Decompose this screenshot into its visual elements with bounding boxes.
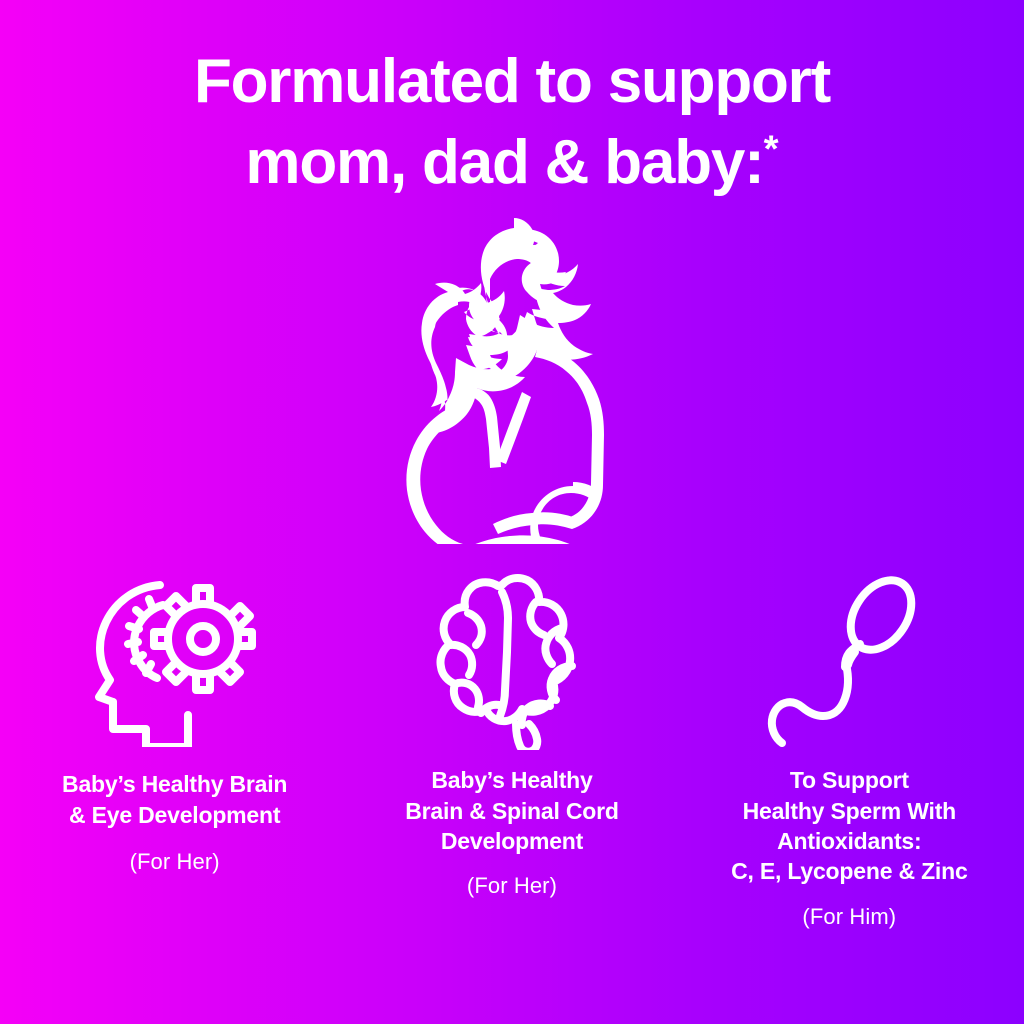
sperm-icon — [763, 571, 935, 751]
benefit-3-line-3: Antioxidants: — [731, 826, 968, 856]
benefit-caption-2: Baby’s Healthy Brain & Spinal Cord Devel… — [399, 765, 624, 856]
benefit-icon-3-box — [763, 571, 935, 751]
promo-graphic-root: { "theme": { "gradient_start": "#F500F7"… — [0, 0, 1024, 1024]
benefit-column-2: Baby’s Healthy Brain & Spinal Cord Devel… — [343, 571, 680, 901]
benefit-audience-3: (For Him) — [802, 903, 896, 932]
headline-line-2: mom, dad & baby: — [245, 128, 763, 197]
benefit-caption-1: Baby’s Healthy Brain & Eye Development — [56, 769, 293, 830]
asterisk-footnote-marker: * — [764, 127, 779, 170]
benefit-2-line-1: Baby’s Healthy — [405, 765, 618, 795]
benefit-1-line-1: Baby’s Healthy Brain — [62, 769, 287, 799]
benefit-icon-1-box — [86, 571, 264, 751]
hero-illustration — [0, 209, 1024, 549]
headline-line-1: Formulated to support — [70, 42, 954, 123]
benefit-audience-1: (For Her) — [130, 848, 220, 877]
benefit-audience-2: (For Her) — [467, 872, 557, 901]
benefit-2-line-2: Brain & Spinal Cord — [405, 796, 618, 826]
benefit-3-line-1: To Support — [731, 765, 968, 795]
benefit-column-3: To Support Healthy Sperm With Antioxidan… — [681, 571, 1018, 931]
benefit-icon-2-box — [424, 571, 600, 751]
family-mom-dad-baby-icon — [362, 214, 662, 544]
page-title: Formulated to support mom, dad & baby:* — [0, 0, 1024, 203]
benefit-1-line-2: & Eye Development — [62, 800, 287, 830]
benefits-row: Baby’s Healthy Brain & Eye Development (… — [0, 549, 1024, 931]
benefit-3-line-4: C, E, Lycopene & Zinc — [731, 856, 968, 886]
benefit-caption-3: To Support Healthy Sperm With Antioxidan… — [725, 765, 974, 886]
headline-line-2-wrap: mom, dad & baby:* — [70, 123, 954, 204]
benefit-column-1: Baby’s Healthy Brain & Eye Development (… — [6, 571, 343, 876]
benefit-2-line-3: Development — [405, 826, 618, 856]
head-with-gears-icon — [86, 575, 264, 747]
benefit-3-line-2: Healthy Sperm With — [731, 796, 968, 826]
brain-icon — [424, 572, 600, 750]
